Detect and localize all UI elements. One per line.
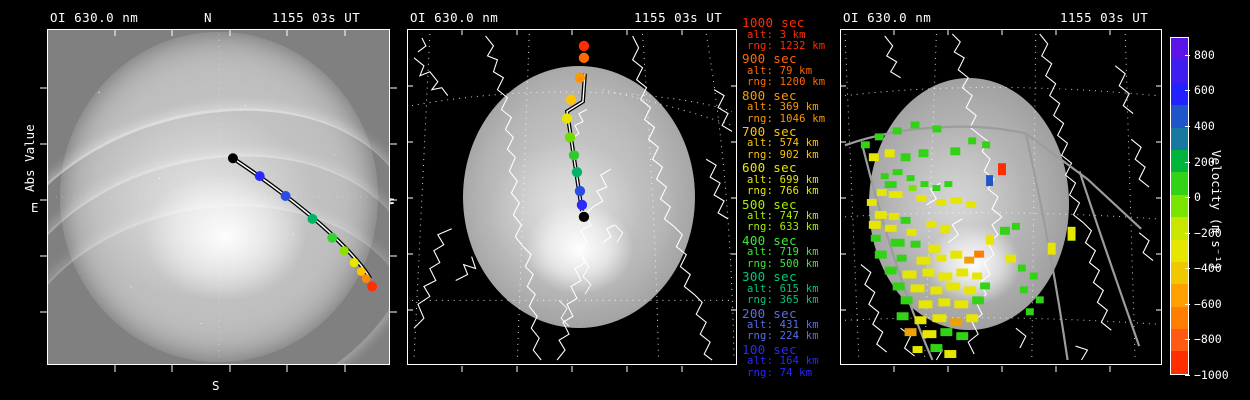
legend-time: 500 sec xyxy=(742,198,838,212)
colorbar-tick-label: −800 xyxy=(1194,332,1222,346)
panel1-ticks xyxy=(40,22,400,382)
colorbar-segment xyxy=(1171,307,1188,329)
colorbar-tick-label: −200 xyxy=(1194,226,1222,240)
legend-entry: 300 sec alt: 615 km rng: 365 km xyxy=(742,270,838,306)
panel3-ticks xyxy=(833,22,1171,382)
legend-entry: 900 sec alt: 79 km rng: 1200 km xyxy=(742,52,838,88)
colorbar-tick-label: −400 xyxy=(1194,261,1222,275)
panel1-ylabel: Abs Value xyxy=(22,124,37,192)
colorbar-segment xyxy=(1171,128,1188,150)
legend-entry: 500 sec alt: 747 km rng: 633 km xyxy=(742,198,838,234)
legend-time: 700 sec xyxy=(742,125,838,139)
colorbar-tick-label: −1000 xyxy=(1194,368,1229,382)
legend-rng: rng: 74 km xyxy=(742,368,838,379)
legend-rng: rng: 365 km xyxy=(742,295,838,306)
legend-entry: 600 sec alt: 699 km rng: 766 km xyxy=(742,161,838,197)
legend-entry: 700 sec alt: 574 km rng: 902 km xyxy=(742,125,838,161)
colorbar-tick-label: 200 xyxy=(1194,155,1215,169)
legend-time: 1000 sec xyxy=(742,16,838,30)
colorbar-tick xyxy=(1185,55,1190,56)
legend-alt: alt: 369 km xyxy=(742,102,838,113)
figure-root: OI 630.0 nm N 1155 03s UT Abs Value E W … xyxy=(0,0,1250,400)
colorbar-tick xyxy=(1185,304,1190,305)
legend-rng: rng: 766 km xyxy=(742,186,838,197)
colorbar-segment xyxy=(1171,262,1188,284)
colorbar-tick-label: 0 xyxy=(1194,190,1201,204)
panel2-ticks xyxy=(400,22,745,382)
colorbar-tick-label: 400 xyxy=(1194,119,1215,133)
colorbar-segment xyxy=(1171,351,1188,373)
colorbar-tick-label: −600 xyxy=(1194,297,1222,311)
legend-time: 600 sec xyxy=(742,161,838,175)
colorbar-tick-label: 800 xyxy=(1194,48,1215,62)
panel1-direction-east: E xyxy=(31,200,39,215)
legend-entry: 200 sec alt: 431 km rng: 224 km xyxy=(742,307,838,343)
legend-alt: alt: 164 km xyxy=(742,356,838,367)
colorbar-tick xyxy=(1185,375,1190,376)
colorbar-segment xyxy=(1171,83,1188,105)
legend-entry: 400 sec alt: 719 km rng: 500 km xyxy=(742,234,838,270)
colorbar-tick xyxy=(1185,339,1190,340)
legend-time: 100 sec xyxy=(742,343,838,357)
colorbar-tick xyxy=(1185,233,1190,234)
colorbar-tick xyxy=(1185,90,1190,91)
trajectory-legend: 1000 sec alt: 3 km rng: 1232 km 900 sec … xyxy=(742,16,838,379)
legend-entry: 1000 sec alt: 3 km rng: 1232 km xyxy=(742,16,838,52)
colorbar-segment xyxy=(1171,60,1188,82)
colorbar-segment xyxy=(1171,172,1188,194)
colorbar-tick xyxy=(1185,126,1190,127)
legend-rng: rng: 1200 km xyxy=(742,77,838,88)
colorbar-segment xyxy=(1171,38,1188,60)
colorbar-tick xyxy=(1185,162,1190,163)
legend-time: 200 sec xyxy=(742,307,838,321)
legend-time: 900 sec xyxy=(742,52,838,66)
legend-time: 800 sec xyxy=(742,89,838,103)
legend-time: 300 sec xyxy=(742,270,838,284)
legend-entry: 800 sec alt: 369 km rng: 1046 km xyxy=(742,89,838,125)
legend-entry: 100 sec alt: 164 km rng: 74 km xyxy=(742,343,838,379)
colorbar-segment xyxy=(1171,240,1188,262)
colorbar-tick xyxy=(1185,197,1190,198)
colorbar-tick xyxy=(1185,268,1190,269)
colorbar-segment xyxy=(1171,105,1188,127)
legend-time: 400 sec xyxy=(742,234,838,248)
colorbar-segment xyxy=(1171,217,1188,239)
colorbar-tick-label: 600 xyxy=(1194,83,1215,97)
velocity-colorbar[interactable] xyxy=(1170,37,1189,375)
